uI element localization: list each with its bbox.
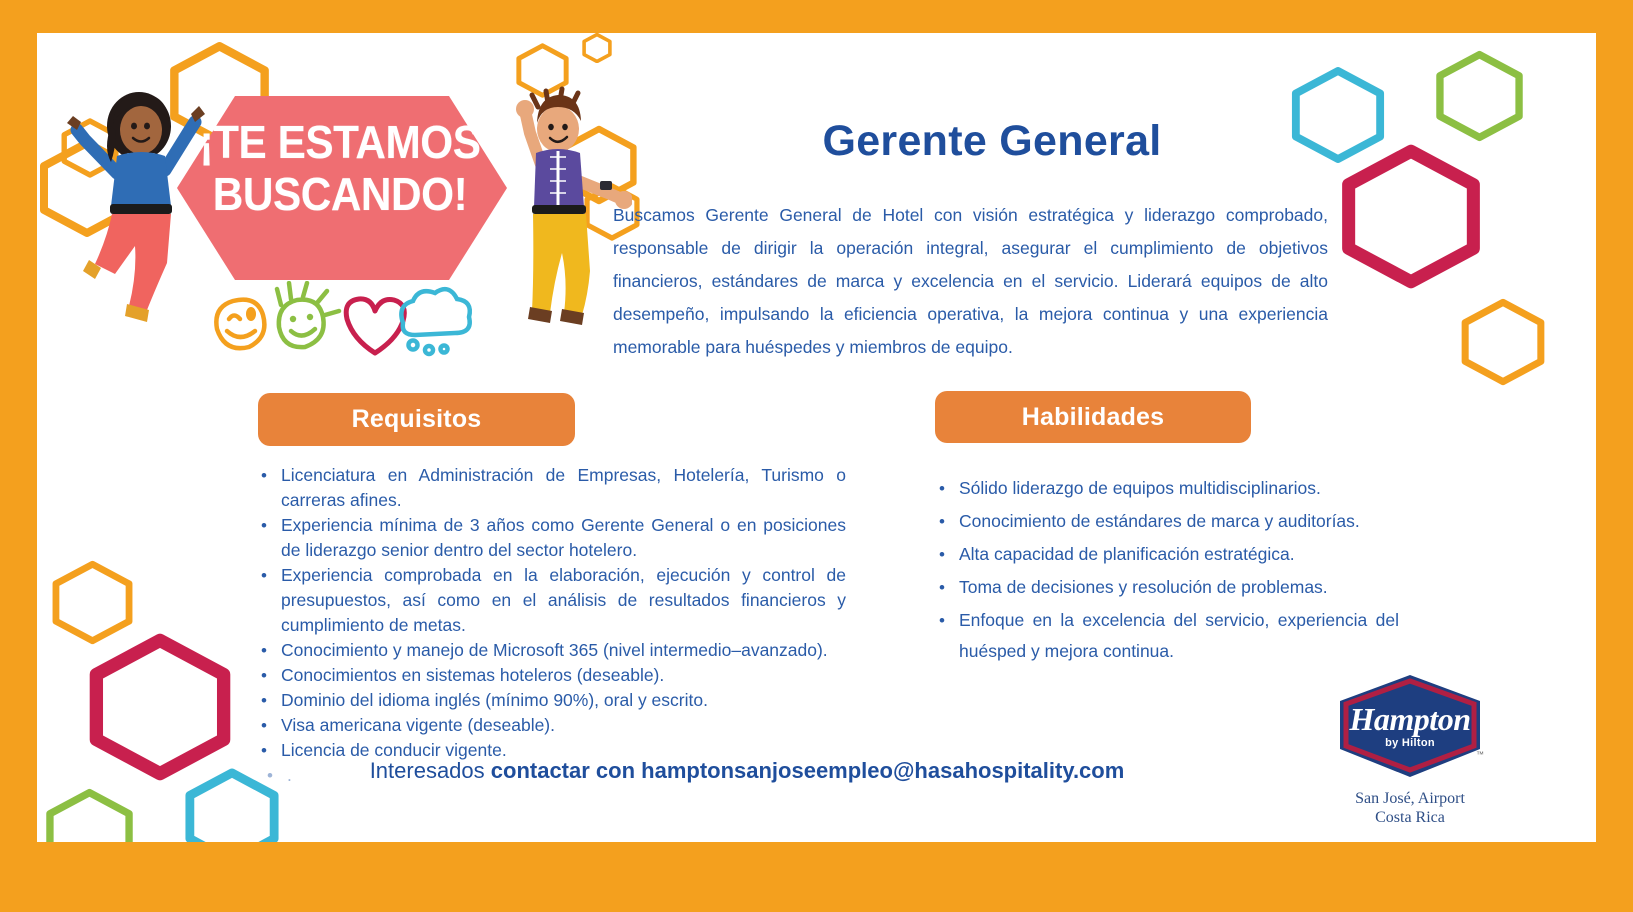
list-item: • Experiencia comprobada en la elaboraci… bbox=[261, 563, 846, 638]
list-item: • Visa americana vigente (deseable). bbox=[261, 713, 846, 738]
list-item: • Experiencia mínima de 3 años como Gere… bbox=[261, 513, 846, 563]
hampton-logo-block: Hampton by Hilton ™ San José, Airport Co… bbox=[1305, 673, 1515, 827]
job-intro-paragraph: Buscamos Gerente General de Hotel con vi… bbox=[613, 199, 1328, 364]
hampton-by-hilton-text: by Hilton bbox=[1334, 737, 1486, 749]
bullet-icon: • bbox=[261, 463, 281, 488]
hotel-location: San José, Airport Costa Rica bbox=[1305, 789, 1515, 827]
list-item: • Licenciatura en Administración de Empr… bbox=[261, 463, 846, 513]
bullet-icon: • bbox=[261, 563, 281, 588]
list-item-label: Sólido liderazgo de equipos multidiscipl… bbox=[959, 473, 1399, 504]
bullet-icon: • bbox=[267, 763, 287, 788]
illustration-doodle-row bbox=[207, 281, 477, 366]
hero-headline: ¡TE ESTAMOS BUSCANDO! bbox=[197, 116, 482, 220]
hero-headline-line2: BUSCANDO! bbox=[197, 168, 482, 220]
list-item: • Alta capacidad de planificación estrat… bbox=[939, 539, 1399, 570]
bullet-icon: • bbox=[939, 473, 959, 504]
list-item-label: Conocimiento de estándares de marca y au… bbox=[959, 506, 1399, 537]
list-item-label: Experiencia comprobada en la elaboración… bbox=[281, 563, 846, 638]
list-item-label: Conocimientos en sistemas hoteleros (des… bbox=[281, 663, 846, 688]
list-item: • Dominio del idioma inglés (mínimo 90%)… bbox=[261, 688, 846, 713]
list-item-label: Toma de decisiones y resolución de probl… bbox=[959, 572, 1399, 603]
list-item-label: Visa americana vigente (deseable). bbox=[281, 713, 846, 738]
hero-headline-line1: ¡TE ESTAMOS bbox=[197, 116, 482, 168]
bullet-icon: • bbox=[261, 638, 281, 663]
job-posting-poster: ¡TE ESTAMOS BUSCANDO! bbox=[0, 0, 1633, 912]
list-item: • Toma de decisiones y resolución de pro… bbox=[939, 572, 1399, 603]
hexagon-crimson-bottomleft bbox=[75, 633, 245, 781]
hampton-shield: Hampton by Hilton ™ bbox=[1334, 673, 1486, 781]
bullet-icon: • bbox=[939, 572, 959, 603]
hexagon-green-topright bbox=[1427, 50, 1532, 142]
contact-email[interactable]: hamptonsanjoseempleo@hasahospitality.com bbox=[641, 758, 1124, 783]
list-item: • Enfoque en la excelencia del servicio,… bbox=[939, 605, 1399, 667]
trademark-icon: ™ bbox=[1476, 750, 1484, 759]
list-item: • Conocimientos en sistemas hoteleros (d… bbox=[261, 663, 846, 688]
hexagon-green-bottomleft bbox=[37, 788, 142, 842]
hexagon-orange-right-lower bbox=[1453, 298, 1553, 386]
contact-line: Interesados contactar con hamptonsanjose… bbox=[337, 758, 1157, 784]
bullet-icon: • bbox=[939, 539, 959, 570]
illustration-person-right bbox=[482, 81, 632, 331]
illustration-person-left bbox=[55, 78, 230, 328]
list-item: • Conocimiento y manejo de Microsoft 365… bbox=[261, 638, 846, 663]
list-item-label: Experiencia mínima de 3 años como Gerent… bbox=[281, 513, 846, 563]
bullet-icon: • bbox=[261, 713, 281, 738]
poster-canvas: ¡TE ESTAMOS BUSCANDO! bbox=[37, 33, 1596, 842]
list-item-label: Alta capacidad de planificación estratég… bbox=[959, 539, 1399, 570]
section-badge-habilidades: Habilidades bbox=[935, 391, 1251, 443]
contact-prefix: Interesados bbox=[370, 758, 491, 783]
list-item-label: Enfoque en la excelencia del servicio, e… bbox=[959, 605, 1399, 667]
list-item-label: Licenciatura en Administración de Empres… bbox=[281, 463, 846, 513]
section-badge-requisitos: Requisitos bbox=[258, 393, 575, 446]
requisitos-list: • Licenciatura en Administración de Empr… bbox=[261, 463, 846, 788]
list-item-label: Dominio del idioma inglés (mínimo 90%), … bbox=[281, 688, 846, 713]
habilidades-list: • Sólido liderazgo de equipos multidisci… bbox=[939, 473, 1399, 669]
list-item: • Sólido liderazgo de equipos multidisci… bbox=[939, 473, 1399, 504]
bullet-icon: • bbox=[261, 663, 281, 688]
list-item-label: Conocimiento y manejo de Microsoft 365 (… bbox=[281, 638, 846, 663]
hampton-wordmark: Hampton bbox=[1334, 701, 1486, 738]
bullet-icon: • bbox=[261, 688, 281, 713]
hotel-location-line2: Costa Rica bbox=[1305, 808, 1515, 827]
list-item: • Conocimiento de estándares de marca y … bbox=[939, 506, 1399, 537]
green-face-doodle bbox=[277, 283, 339, 347]
contact-bold-text: contactar con bbox=[491, 758, 641, 783]
heart-doodle bbox=[346, 299, 404, 353]
smiley-doodle bbox=[216, 300, 264, 349]
bullet-icon: • bbox=[261, 738, 281, 763]
bullet-icon: • bbox=[261, 513, 281, 538]
bullet-icon: • bbox=[939, 605, 959, 636]
cloud-doodle bbox=[401, 289, 469, 354]
hero-illustration: ¡TE ESTAMOS BUSCANDO! bbox=[37, 33, 637, 383]
hotel-location-line1: San José, Airport bbox=[1305, 789, 1515, 808]
page-title: Gerente General bbox=[612, 117, 1372, 166]
bullet-icon: • bbox=[939, 506, 959, 537]
